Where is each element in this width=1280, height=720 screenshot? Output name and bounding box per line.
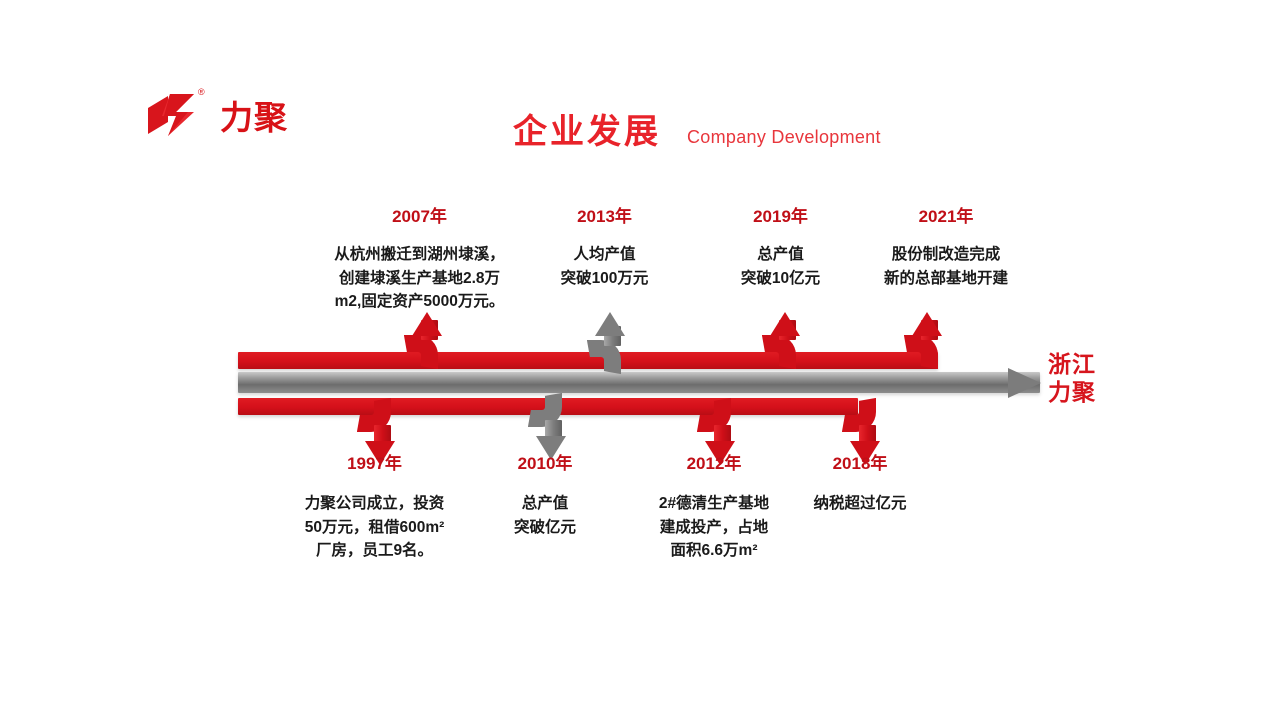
logo-lightning-mark-icon: ® (146, 88, 204, 140)
event-desc-line: m2,固定资产5000万元。 (297, 290, 542, 314)
event-2007: 2007年 从杭州搬迁到湖州埭溪， 创建埭溪生产基地2.8万 m2,固定资产50… (297, 208, 542, 314)
logo-text: 力聚 (220, 101, 288, 134)
event-desc-line: 总产值 (703, 243, 858, 267)
event-desc-2007: 从杭州搬迁到湖州埭溪， 创建埭溪生产基地2.8万 m2,固定资产5000万元。 (297, 243, 542, 314)
slide-canvas: ® 力聚 企业发展 Company Development (0, 0, 1280, 720)
event-desc-line: 人均产值 (527, 243, 682, 267)
title-chinese: 企业发展 (513, 115, 661, 149)
event-2018: 2018年 纳税超过亿元 (787, 455, 933, 516)
event-year-2021: 2021年 (852, 208, 1040, 225)
event-desc-line: 厂房，员工9名。 (262, 539, 487, 563)
event-desc-line: 建成投产，占地 (634, 516, 794, 540)
event-2013: 2013年 人均产值 突破100万元 (527, 208, 682, 290)
timeline-bar-gray-main (238, 372, 1040, 393)
title-english: Company Development (687, 128, 881, 149)
event-desc-line: 股份制改造完成 (852, 243, 1040, 267)
event-desc-2010: 总产值 突破亿元 (470, 492, 620, 539)
event-2021: 2021年 股份制改造完成 新的总部基地开建 (852, 208, 1040, 290)
event-desc-line: 总产值 (470, 492, 620, 516)
timeline-end-label: 浙江 力聚 (1048, 350, 1096, 406)
event-desc-2013: 人均产值 突破100万元 (527, 243, 682, 290)
event-desc-2021: 股份制改造完成 新的总部基地开建 (852, 243, 1040, 290)
timeline-main-arrowhead-icon (1008, 368, 1041, 398)
event-desc-line: 50万元，租借600m² (262, 516, 487, 540)
event-year-2007: 2007年 (297, 208, 542, 225)
registered-trademark-icon: ® (198, 88, 205, 97)
event-desc-line: 面积6.6万m² (634, 539, 794, 563)
event-desc-line: 2#德清生产基地 (634, 492, 794, 516)
event-desc-line: 创建埭溪生产基地2.8万 (297, 267, 542, 291)
event-desc-2018: 纳税超过亿元 (787, 492, 933, 516)
event-year-2013: 2013年 (527, 208, 682, 225)
event-desc-line: 新的总部基地开建 (852, 267, 1040, 291)
event-year-2010: 2010年 (470, 455, 620, 472)
event-desc-line: 力聚公司成立，投资 (262, 492, 487, 516)
event-desc-2012: 2#德清生产基地 建成投产，占地 面积6.6万m² (634, 492, 794, 563)
event-desc-line: 纳税超过亿元 (787, 492, 933, 516)
event-year-1997: 1997年 (262, 455, 487, 472)
event-desc-line: 突破10亿元 (703, 267, 858, 291)
event-year-2018: 2018年 (787, 455, 933, 472)
event-desc-line: 突破100万元 (527, 267, 682, 291)
company-logo: ® 力聚 (146, 88, 288, 140)
event-2019: 2019年 总产值 突破10亿元 (703, 208, 858, 290)
event-2012: 2012年 2#德清生产基地 建成投产，占地 面积6.6万m² (634, 455, 794, 563)
event-desc-2019: 总产值 突破10亿元 (703, 243, 858, 290)
event-year-2019: 2019年 (703, 208, 858, 225)
event-desc-line: 突破亿元 (470, 516, 620, 540)
event-1997: 1997年 力聚公司成立，投资 50万元，租借600m² 厂房，员工9名。 (262, 455, 487, 563)
end-label-line2: 力聚 (1048, 378, 1096, 406)
event-year-2012: 2012年 (634, 455, 794, 472)
end-label-line1: 浙江 (1048, 350, 1096, 378)
event-2010: 2010年 总产值 突破亿元 (470, 455, 620, 539)
event-desc-1997: 力聚公司成立，投资 50万元，租借600m² 厂房，员工9名。 (262, 492, 487, 563)
event-desc-line: 从杭州搬迁到湖州埭溪， (297, 243, 542, 267)
page-title: 企业发展 Company Development (513, 115, 881, 149)
